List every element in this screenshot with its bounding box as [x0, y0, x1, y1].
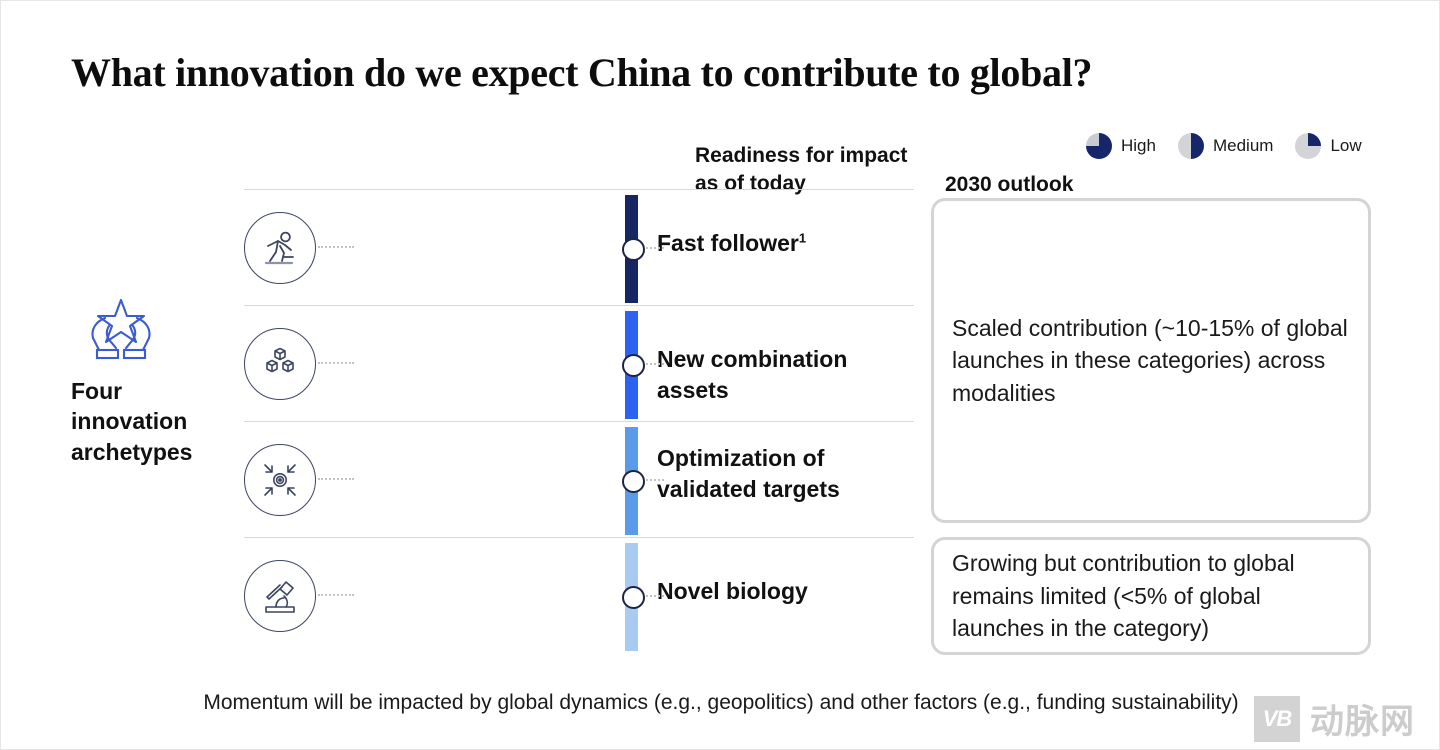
archetype-rows: Fast follower1 [244, 189, 914, 653]
outlook-card-scaled-contribution[interactable]: Scaled contribution (~10-15% of global l… [931, 198, 1371, 523]
stacked-cubes-icon [244, 328, 316, 400]
page-title: What innovation do we expect China to co… [71, 49, 1092, 96]
legend-label-high: High [1121, 136, 1156, 156]
legend-item-low: Low [1295, 133, 1361, 159]
hands-holding-star-icon [83, 296, 159, 362]
footer-note: Momentum will be impacted by global dyna… [1, 691, 1440, 715]
archetypes-title: Four innovation archetypes [71, 376, 236, 467]
row-label-text: Fast follower [657, 230, 799, 256]
outlook-card-text: Growing but contribution to global remai… [934, 547, 1368, 645]
table-row[interactable]: New combination assets [244, 305, 914, 421]
outlook-column-header: 2030 outlook [945, 171, 1073, 199]
row-label-text: Novel biology [657, 578, 808, 604]
table-row[interactable]: Fast follower1 [244, 189, 914, 305]
legend-item-high: High [1086, 133, 1156, 159]
watermark: VB 动脉网 [1254, 694, 1415, 743]
running-person-icon [244, 212, 316, 284]
connector-dots [318, 362, 354, 366]
row-label-text: Optimization of validated targets [657, 445, 840, 502]
table-row[interactable]: Optimization of validated targets [244, 421, 914, 537]
connector-dots [318, 246, 354, 250]
microscope-icon [244, 560, 316, 632]
table-row[interactable]: Novel biology [244, 537, 914, 653]
row-label-fast-follower: Fast follower1 [657, 228, 806, 259]
connector-dots-right [642, 247, 664, 251]
row-label-new-combination-assets: New combination assets [657, 344, 914, 406]
archetypes-summary: Four innovation archetypes [71, 296, 236, 467]
connector-dots [318, 478, 354, 482]
pie-quarter-icon [1295, 133, 1321, 159]
connector-dots-right [642, 363, 664, 367]
outlook-card-text: Scaled contribution (~10-15% of global l… [934, 312, 1368, 410]
legend-label-medium: Medium [1213, 136, 1273, 156]
row-label-text: New combination assets [657, 346, 847, 403]
row-node-marker [622, 354, 645, 377]
connector-dots [318, 594, 354, 598]
row-node-marker [622, 586, 645, 609]
row-node-marker [622, 470, 645, 493]
legend-label-low: Low [1330, 136, 1361, 156]
readiness-legend: High Medium Low [1086, 133, 1362, 159]
watermark-text: 动脉网 [1310, 694, 1415, 743]
slide-canvas: What innovation do we expect China to co… [0, 0, 1440, 750]
pie-three-quarter-icon [1086, 133, 1112, 159]
connector-dots-right [642, 595, 664, 599]
watermark-logo-icon: VB [1254, 696, 1300, 742]
outlook-card-growing-contribution[interactable]: Growing but contribution to global remai… [931, 537, 1371, 655]
row-node-marker [622, 238, 645, 261]
row-label-optimization-of-validated-targets: Optimization of validated targets [657, 443, 914, 505]
legend-item-medium: Medium [1178, 133, 1273, 159]
connector-dots-right [642, 479, 664, 483]
row-label-novel-biology: Novel biology [657, 576, 808, 607]
row-label-superscript: 1 [799, 230, 806, 245]
target-arrows-icon [244, 444, 316, 516]
pie-half-icon [1178, 133, 1204, 159]
